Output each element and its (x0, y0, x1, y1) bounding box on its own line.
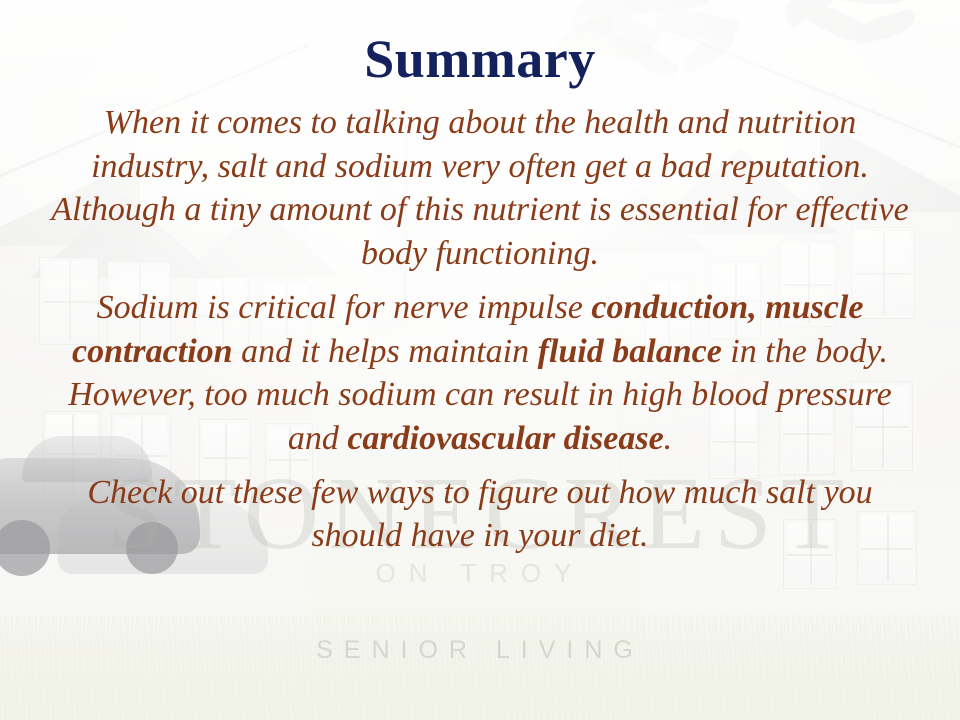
slide-content: Summary When it comes to talking about t… (0, 0, 960, 720)
body-text: . (664, 420, 673, 457)
paragraph-intro: When it comes to talking about the healt… (46, 101, 914, 276)
body-text: Sodium is critical for nerve impulse (97, 289, 592, 326)
slide-body: When it comes to talking about the healt… (46, 101, 914, 560)
presentation-slide: STONECREST ON TROY SENIOR LIVING Summary… (0, 0, 960, 720)
body-text: When it comes to talking about the healt… (51, 104, 908, 272)
paragraph-closing: Check out these few ways to figure out h… (46, 471, 914, 558)
body-text: Check out these few ways to figure out h… (87, 474, 872, 555)
body-text: and it helps maintain (233, 333, 538, 370)
emphasis-text: cardiovascular disease (347, 420, 663, 457)
paragraph-sodium: Sodium is critical for nerve impulse con… (46, 286, 914, 461)
emphasis-text: fluid balance (538, 333, 722, 370)
page-title: Summary (364, 32, 596, 87)
